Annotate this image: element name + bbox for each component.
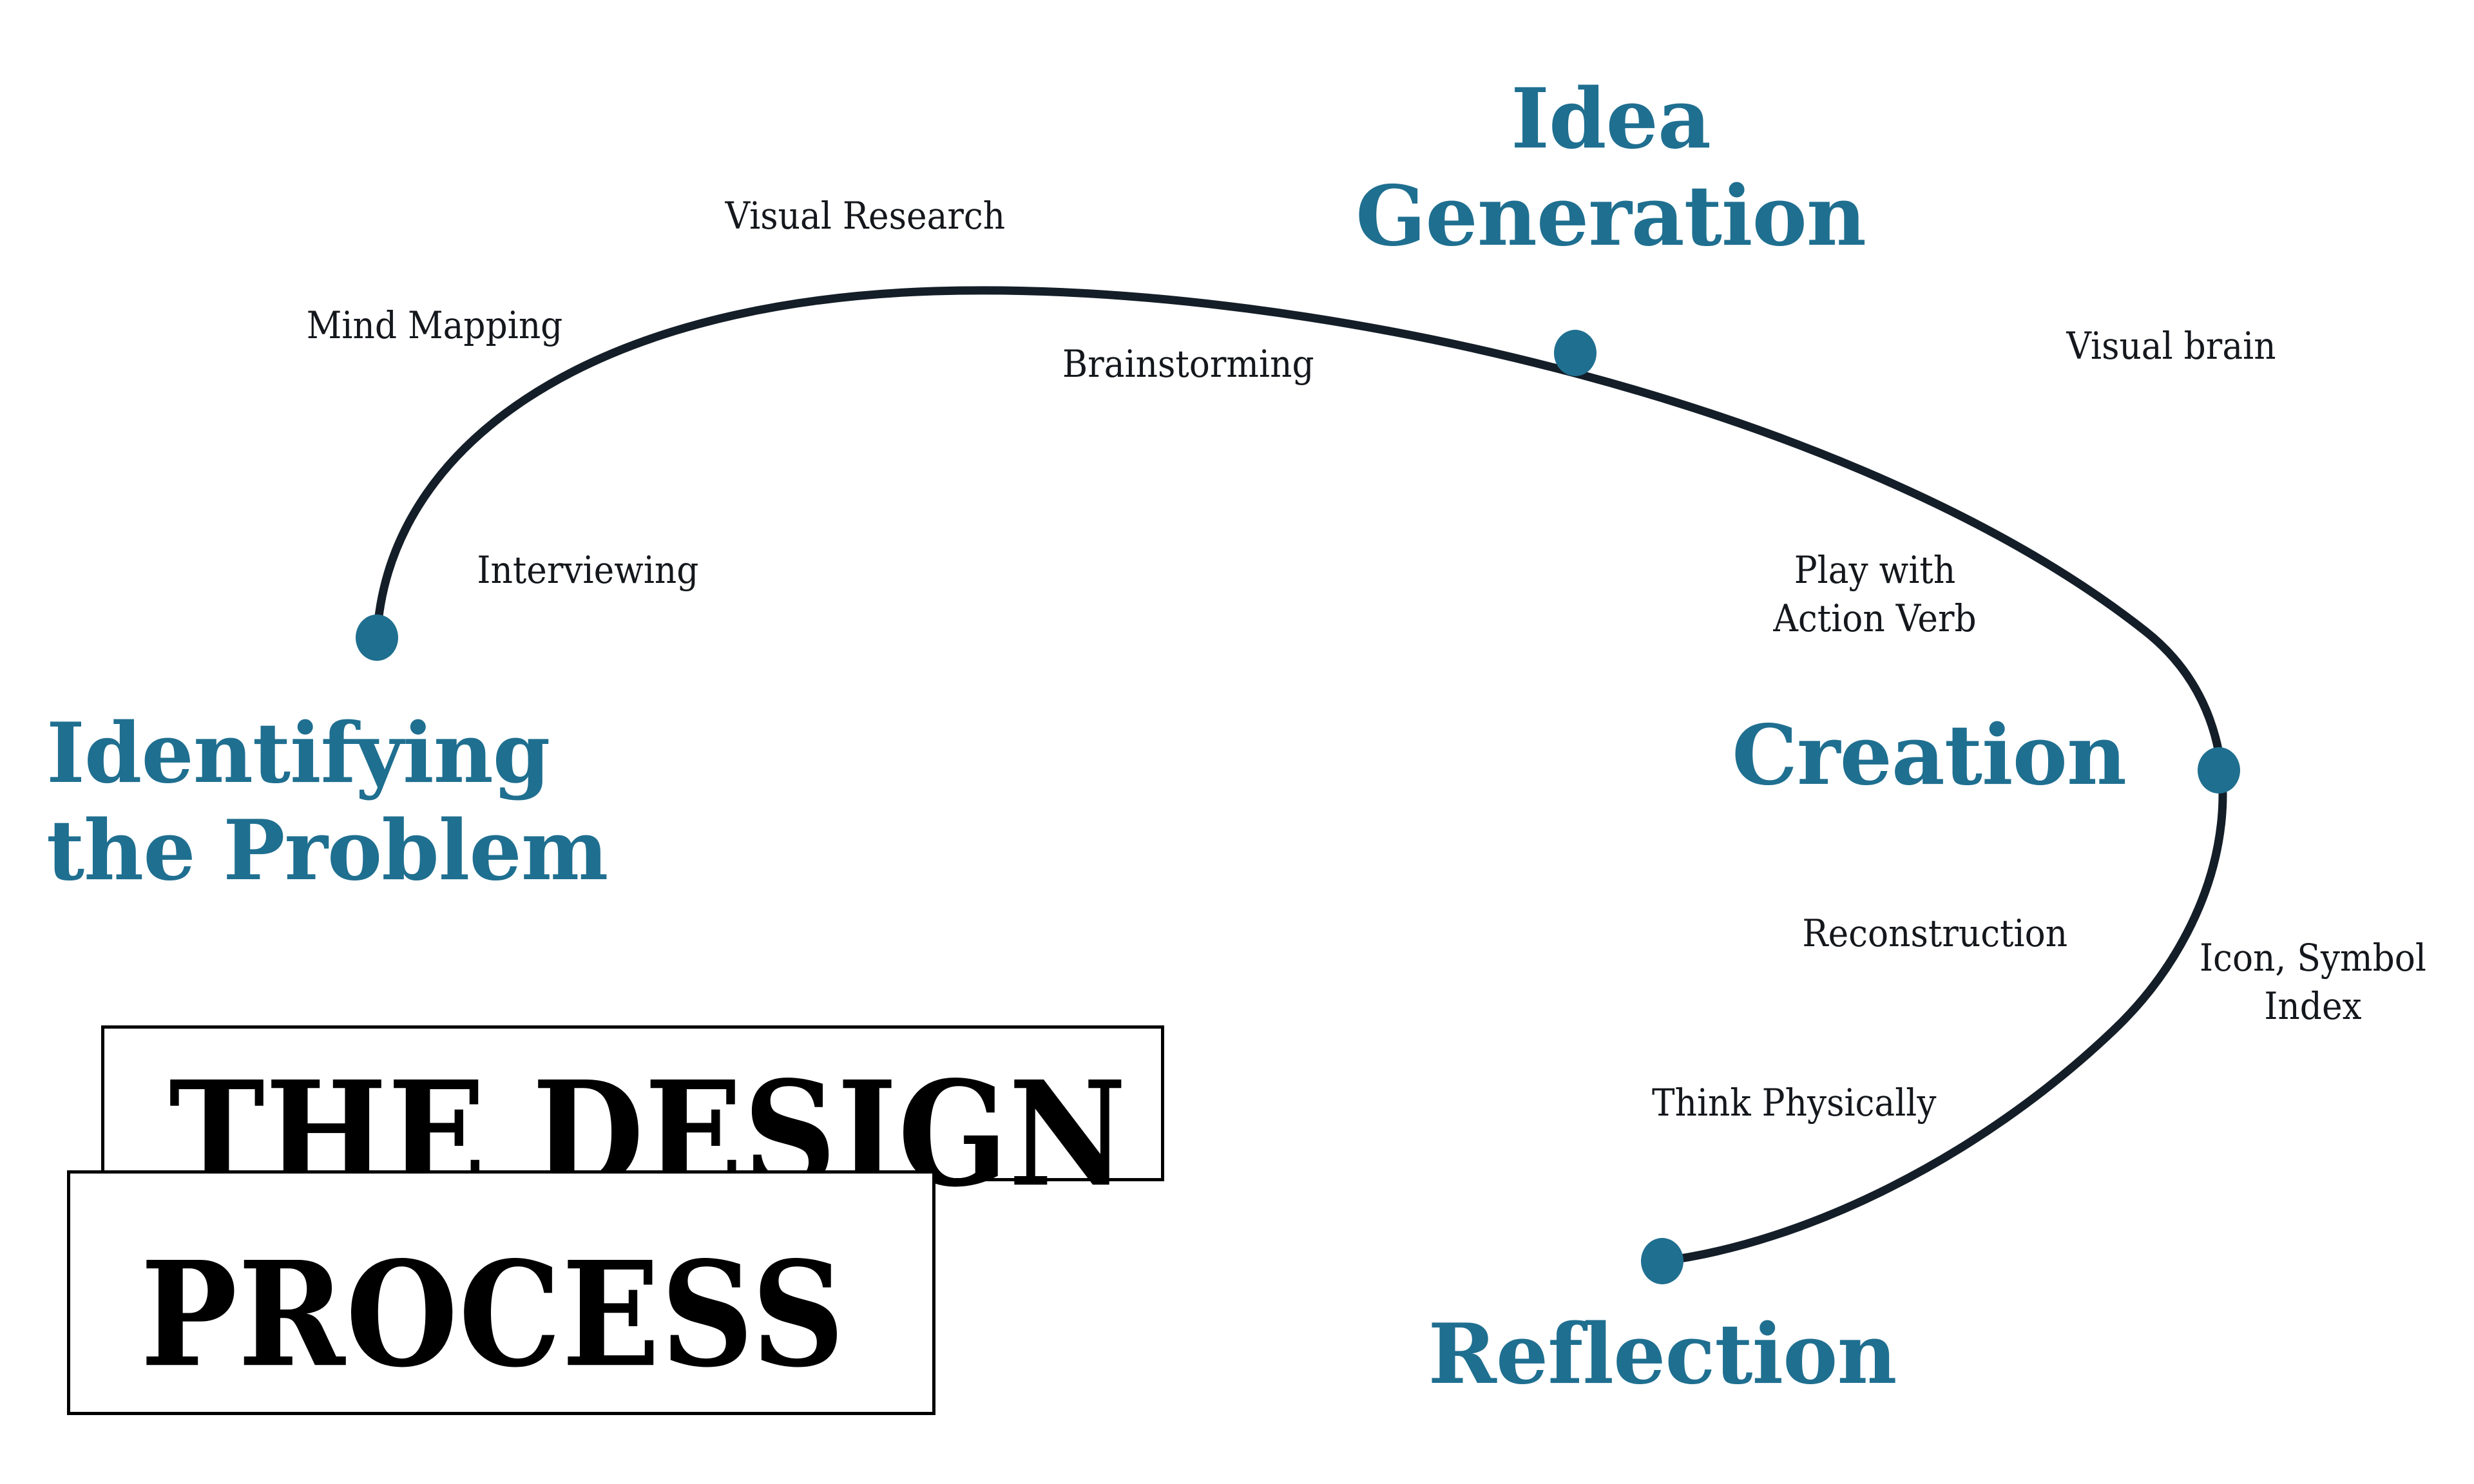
design-process-diagram: Identifying the Problem Idea Generation … <box>0 0 2474 1484</box>
annotation-mind-mapping: Mind Mapping <box>307 301 615 350</box>
annotation-brainstorming: Brainstorming <box>1062 340 1418 388</box>
title-line-process: PROCESS <box>140 1243 845 1387</box>
stage-heading-identifying-the-problem: Identifying the Problem <box>46 705 626 900</box>
stage-heading-idea-generation: Idea Generation <box>1321 71 1901 265</box>
stage-node-identifying-the-problem[interactable] <box>356 614 398 661</box>
stage-node-idea-generation[interactable] <box>1554 330 1597 376</box>
stage-heading-creation: Creation <box>1520 707 2126 804</box>
annotation-reconstruction: Reconstruction <box>1802 909 2134 958</box>
stage-node-reflection[interactable] <box>1641 1238 1683 1284</box>
annotation-play-with-action-verb: Play with Action Verb <box>1750 546 1999 643</box>
stage-node-creation[interactable] <box>2198 747 2240 794</box>
annotation-interviewing: Interviewing <box>477 546 809 595</box>
annotation-visual-brain: Visual brain <box>2066 322 2398 370</box>
annotation-think-physically: Think Physically <box>1652 1079 2008 1127</box>
annotation-icon-symbol-index: Icon, Symbol Index <box>2185 934 2440 1031</box>
stage-heading-reflection: Reflection <box>1308 1306 2017 1403</box>
annotation-visual-research: Visual Research <box>725 192 1105 240</box>
